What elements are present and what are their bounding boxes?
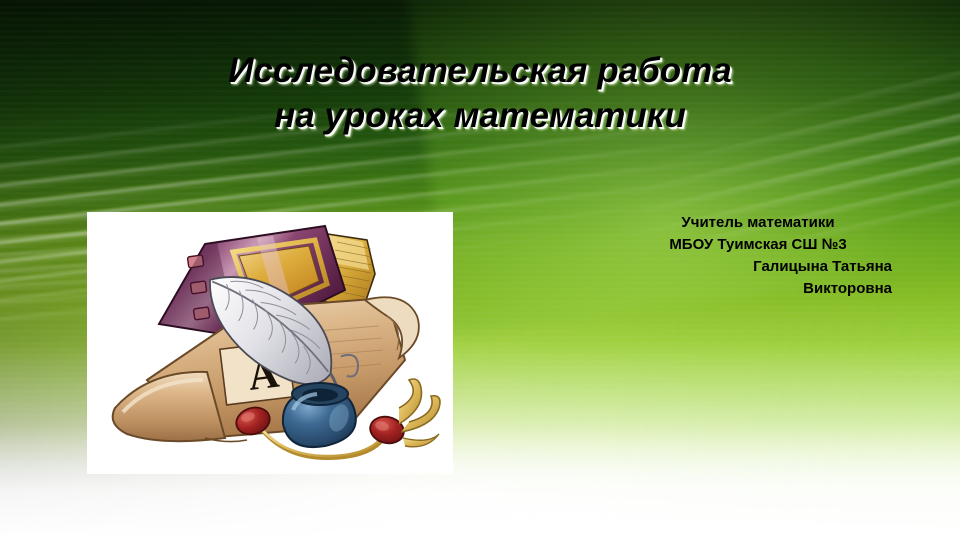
clipart-illustration: A	[87, 212, 453, 474]
author-line-name: Галицына Татьяна	[624, 256, 892, 278]
author-line-role: Учитель математики	[624, 212, 892, 234]
author-line-patronymic: Викторовна	[624, 278, 892, 300]
slide-title: Исследовательская работа на уроках матем…	[120, 48, 840, 138]
author-line-school: МБОУ Туимская СШ №3	[624, 234, 892, 256]
author-block: Учитель математики МБОУ Туимская СШ №3 Г…	[624, 212, 892, 300]
inkwell	[283, 383, 356, 447]
presentation-slide: Исследовательская работа на уроках матем…	[0, 0, 960, 540]
clipart-image: A	[87, 212, 453, 474]
